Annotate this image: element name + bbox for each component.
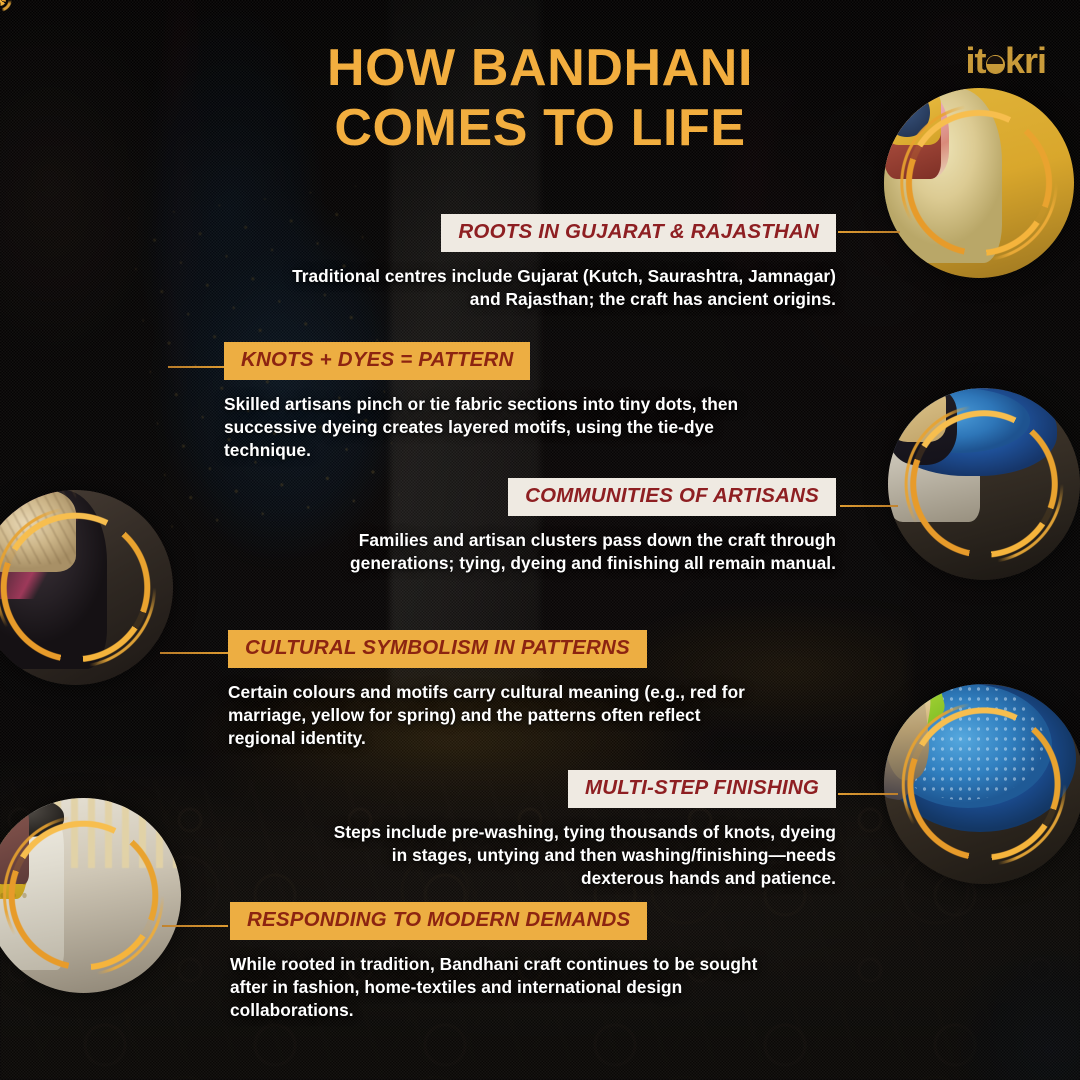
section-knots-dyes: KNOTS + DYES = PATTERN Skilled artisans … (224, 342, 824, 462)
section-roots: ROOTS IN GUJARAT & RAJASTHAN Traditional… (288, 214, 836, 311)
page-title-line-1: HOW BANDHANI (327, 39, 753, 97)
section-body-modern-demands: While rooted in tradition, Bandhani craf… (230, 953, 775, 1022)
photo-ring-outer-1 (867, 71, 1080, 295)
infographic-canvas: HOW BANDHANI COMES TO LIFE itkri (0, 0, 1080, 1080)
photo-man-dyeing-yellow-cloth (0, 798, 181, 993)
connector-line-finishing (838, 793, 898, 795)
section-communities: COMMUNITIES OF ARTISANS Families and art… (250, 478, 836, 575)
connector-line-communities (840, 505, 898, 507)
photo-ring-outer-5 (871, 371, 1080, 597)
connector-line-symbolism (160, 652, 228, 654)
connector-line-roots (838, 231, 900, 233)
section-body-roots: Traditional centres include Gujarat (Kut… (288, 265, 836, 311)
section-body-communities: Families and artisan clusters pass down … (250, 529, 836, 575)
section-cultural-symbolism: CULTURAL SYMBOLISM IN PATTERNS Certain c… (228, 630, 828, 750)
connector-line-knots (168, 366, 226, 368)
photo-man-dipping-blue-vat: J. y Water Brick GUJARAT BLUE (888, 388, 1080, 580)
section-heading-knots-dyes: KNOTS + DYES = PATTERN (224, 342, 530, 380)
section-heading-cultural-symbolism: CULTURAL SYMBOLISM IN PATTERNS (228, 630, 647, 668)
section-body-knots-dyes: Skilled artisans pinch or tie fabric sec… (224, 393, 769, 462)
photo-blue-vat-green-fabric (884, 684, 1080, 884)
section-body-cultural-symbolism: Certain colours and motifs carry cultura… (228, 681, 758, 750)
section-heading-roots: ROOTS IN GUJARAT & RAJASTHAN (441, 214, 836, 252)
photo-woman-tying-cream-fabric (0, 490, 173, 685)
section-modern-demands: RESPONDING TO MODERN DEMANDS While roote… (230, 902, 830, 1022)
section-heading-communities: COMMUNITIES OF ARTISANS (508, 478, 836, 516)
photo-women-tying-yellow-wall (884, 88, 1074, 278)
section-heading-multi-step-finishing: MULTI-STEP FINISHING (568, 770, 836, 808)
section-multi-step-finishing: MULTI-STEP FINISHING Steps include pre-w… (330, 770, 836, 890)
section-heading-modern-demands: RESPONDING TO MODERN DEMANDS (230, 902, 647, 940)
connector-line-modern (162, 925, 228, 927)
section-body-multi-step-finishing: Steps include pre-washing, tying thousan… (330, 821, 836, 890)
